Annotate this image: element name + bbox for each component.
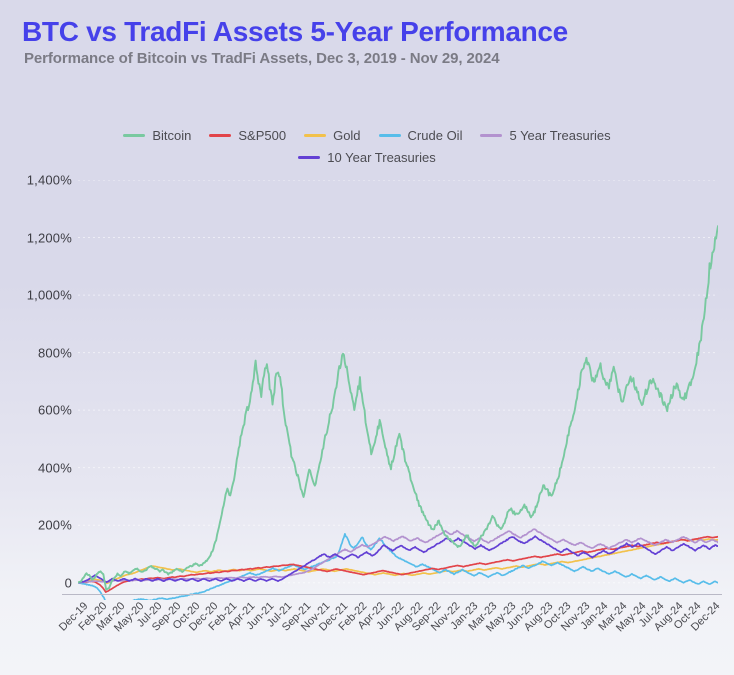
y-axis-tick-label: 0 xyxy=(65,575,72,590)
legend-item-label: S&P500 xyxy=(238,128,286,143)
legend-item-label: 10 Year Treasuries xyxy=(327,150,435,165)
legend-item-label: Gold xyxy=(333,128,360,143)
chart-page: BTC vs TradFi Assets 5-Year Performance … xyxy=(0,0,734,675)
legend-item-label: Bitcoin xyxy=(152,128,191,143)
legend-row-primary: BitcoinS&P500GoldCrude Oil5 Year Treasur… xyxy=(0,124,734,146)
legend-item-label: 5 Year Treasuries xyxy=(509,128,610,143)
y-axis-labels: 0200%400%600%800%1,000%1,200%1,400% xyxy=(0,180,78,600)
legend-item-crude-oil[interactable]: Crude Oil xyxy=(379,124,463,146)
y-axis-tick-label: 1,000% xyxy=(27,288,72,303)
series-line-bitcoin[interactable] xyxy=(78,226,718,590)
legend-item-10-year-treasuries[interactable]: 10 Year Treasuries xyxy=(298,146,435,168)
legend-swatch-icon xyxy=(298,156,320,159)
y-axis-tick-label: 1,200% xyxy=(27,230,72,245)
legend-swatch-icon xyxy=(379,134,401,137)
series-line-s-p500[interactable] xyxy=(78,537,718,592)
legend-swatch-icon xyxy=(209,134,231,137)
line-chart-canvas xyxy=(78,180,718,600)
x-axis-labels: Dec-19Feb-20Mar-20May-20Jul-20Sep-20Oct-… xyxy=(78,600,718,675)
page-title: BTC vs TradFi Assets 5-Year Performance xyxy=(22,16,568,48)
y-axis-tick-label: 1,400% xyxy=(27,173,72,188)
plot-area: 0200%400%600%800%1,000%1,200%1,400% xyxy=(0,180,734,600)
legend-swatch-icon xyxy=(123,134,145,137)
legend-swatch-icon xyxy=(480,134,502,137)
chart-legend: BitcoinS&P500GoldCrude Oil5 Year Treasur… xyxy=(0,124,734,168)
legend-row-secondary: 10 Year Treasuries xyxy=(0,146,734,168)
series-line-crude-oil[interactable] xyxy=(78,534,718,600)
legend-item-label: Crude Oil xyxy=(408,128,463,143)
x-axis-line xyxy=(62,594,722,595)
legend-item-s-p500[interactable]: S&P500 xyxy=(209,124,286,146)
legend-item-bitcoin[interactable]: Bitcoin xyxy=(123,124,191,146)
page-subtitle: Performance of Bitcoin vs TradFi Assets,… xyxy=(24,50,499,67)
legend-item-5-year-treasuries[interactable]: 5 Year Treasuries xyxy=(480,124,610,146)
y-axis-tick-label: 400% xyxy=(38,460,72,475)
y-axis-tick-label: 200% xyxy=(38,518,72,533)
y-axis-tick-label: 600% xyxy=(38,403,72,418)
legend-item-gold[interactable]: Gold xyxy=(304,124,360,146)
legend-swatch-icon xyxy=(304,134,326,137)
y-axis-tick-label: 800% xyxy=(38,345,72,360)
